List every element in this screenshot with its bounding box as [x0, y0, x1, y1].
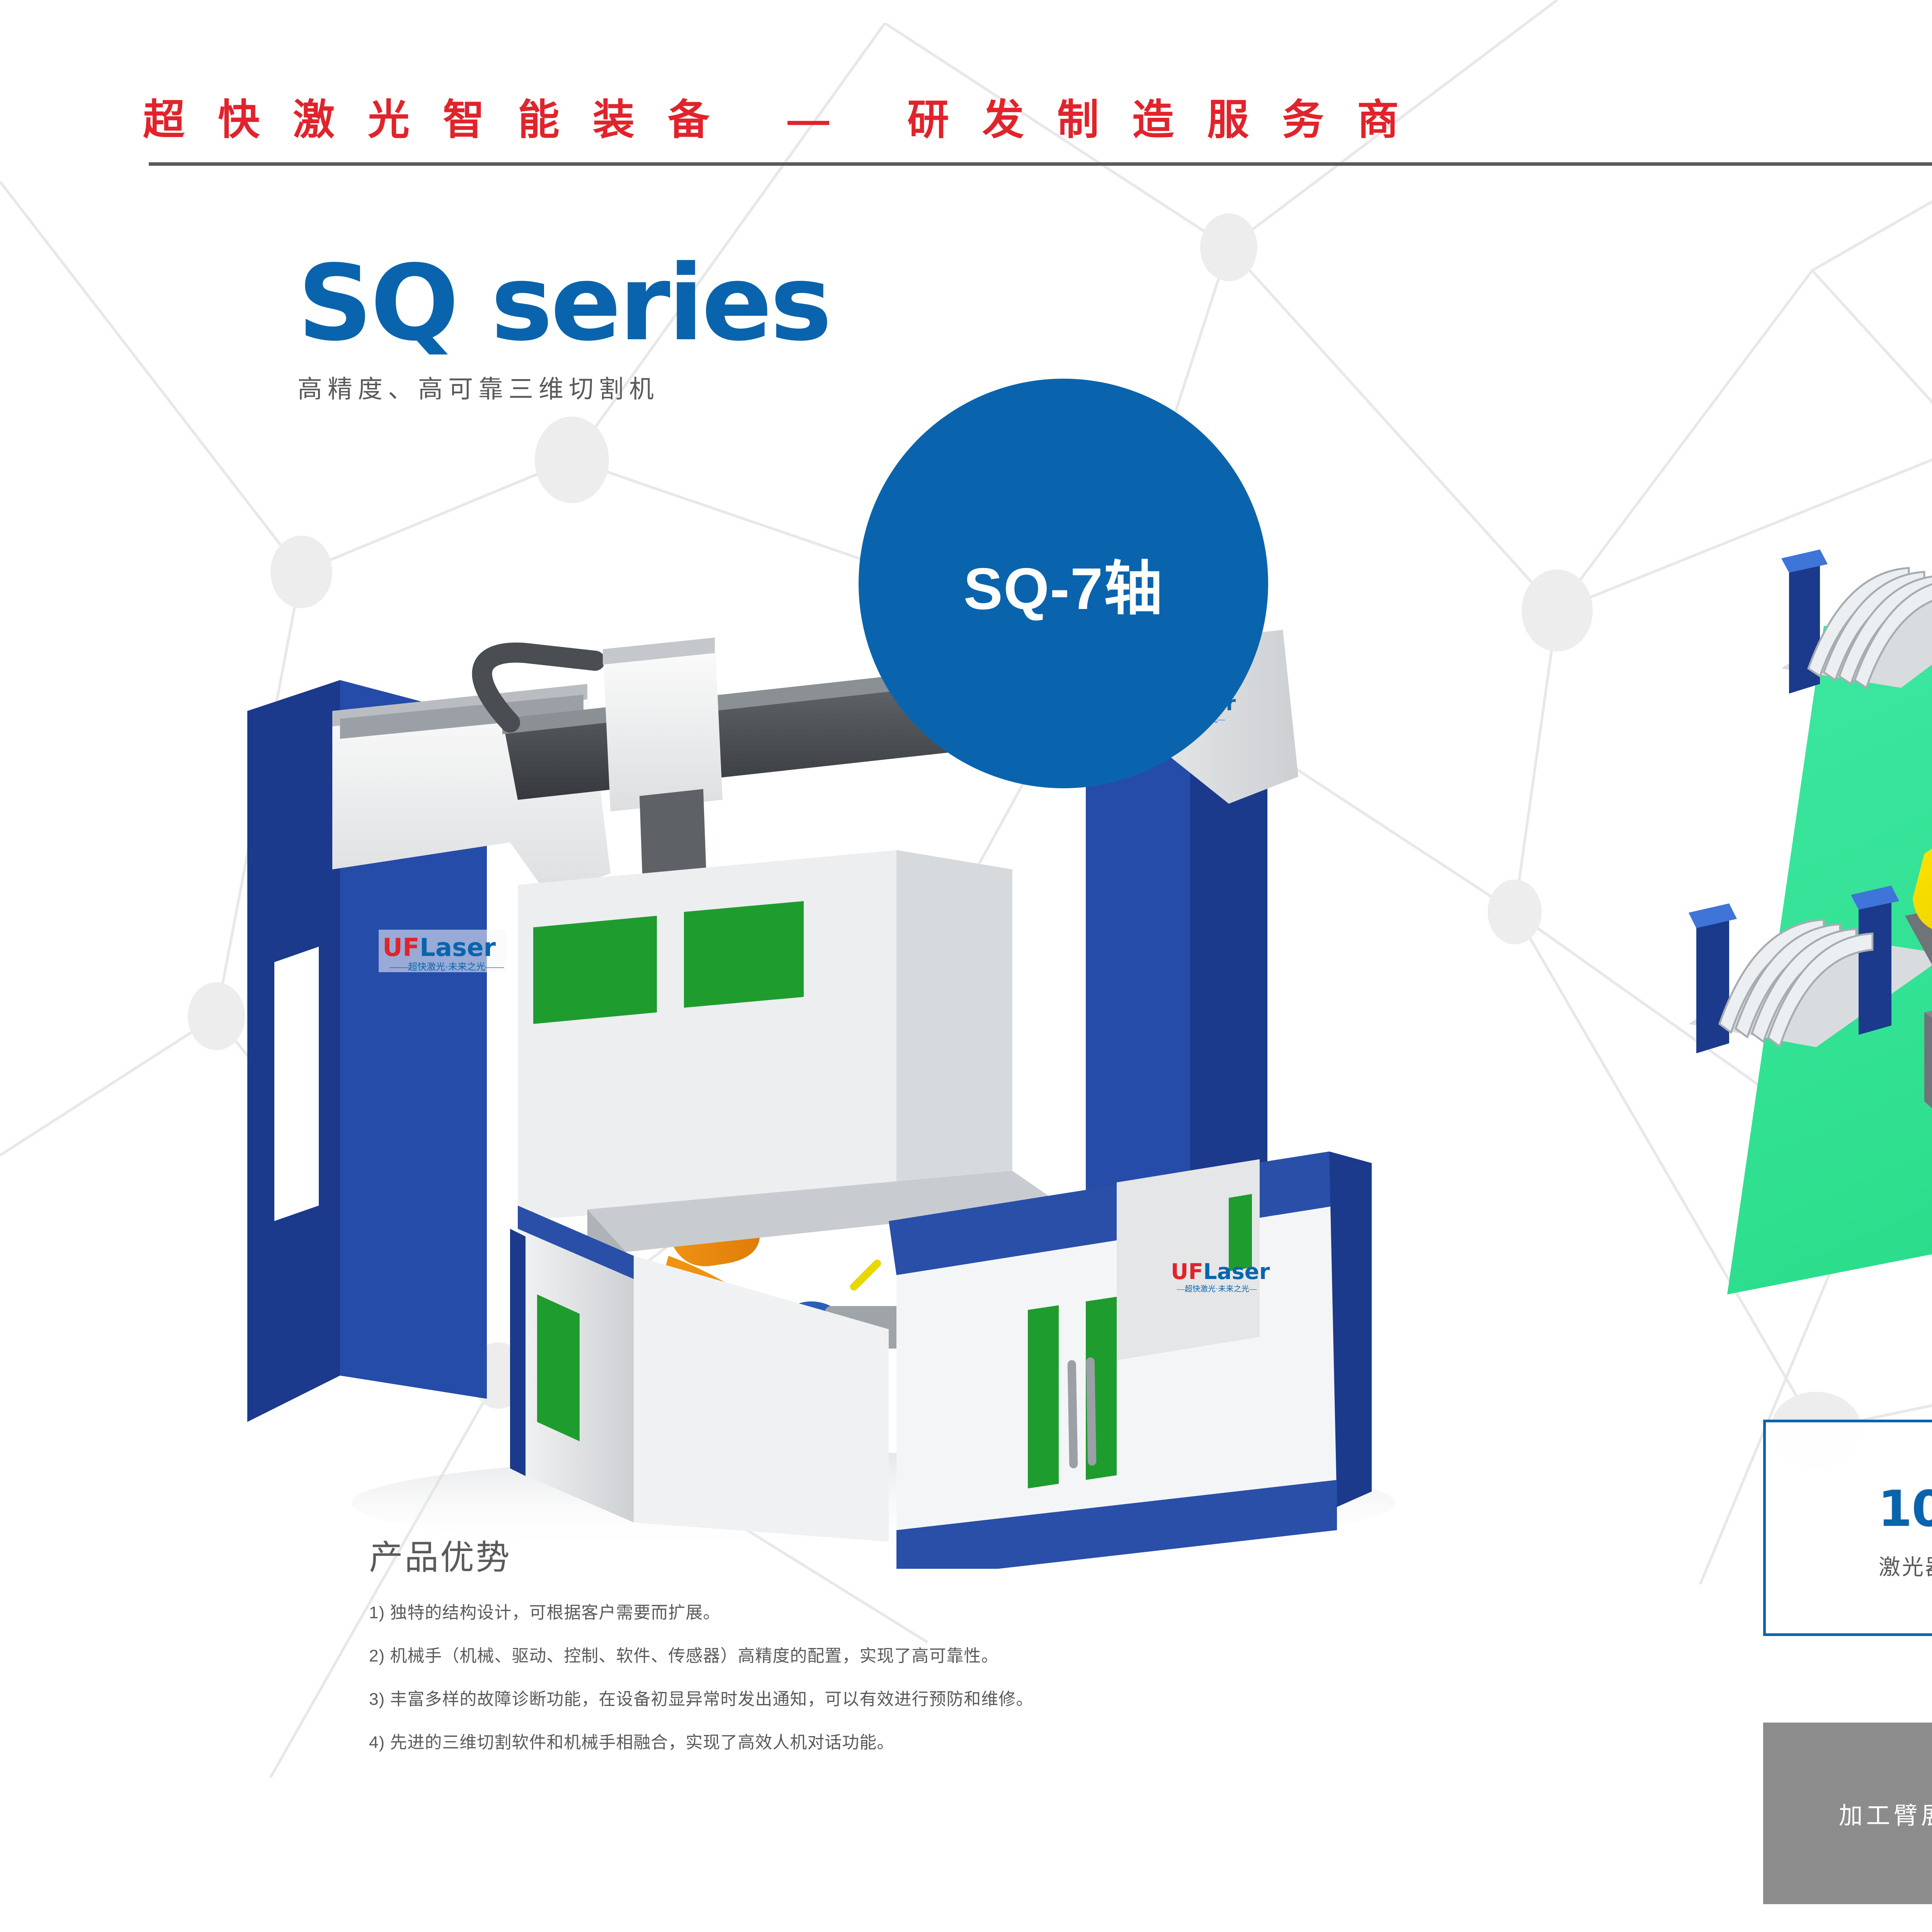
power-panel-label: 激光器功率	[1879, 1550, 1932, 1581]
header-slogan: 超快激光智能装备 — 研发制造服务商	[143, 89, 1432, 151]
spec-header-arm-reach: 加工臂展	[1763, 1723, 1932, 1904]
badge-sq7-line-1: SQ-7轴	[964, 541, 1163, 626]
power-options-row: 1000 瓦 1500 瓦 2000 瓦 3000 瓦	[1878, 1480, 1932, 1538]
advantage-item-2: 2) 机械手（机械、驱动、控制、软件、传感器）高精度的配置，实现了高可靠性。	[369, 1643, 1296, 1670]
advantage-item-3: 3) 丰富多样的故障诊断功能，在设备初显异常时发出通知，可以有效进行预防和维修。	[369, 1686, 1296, 1713]
advantage-item-4: 4) 先进的三维切割软件和机械手相融合，实现了高效人机对话功能。	[369, 1729, 1296, 1756]
brochure-page: 超快激光智能装备 — 研发制造服务商 UFLaser ——超快激光·未来之光——…	[0, 0, 1932, 1932]
automation-cell-image: UF Laser —超快激光·未来之光—	[1654, 498, 1932, 1403]
power-value-1: 1000	[1878, 1480, 1932, 1538]
arm-reach-spec-table: 加工臂展 1400mm 1600mm 1800mm 2000mm	[1763, 1723, 1932, 1904]
page-title: SQ series	[298, 255, 830, 352]
sq-7axis-machine-image: UF Laser ——超快激光·未来之光—— UF Laser —超快激光·未来…	[216, 603, 1530, 1569]
power-option-1000w: 1000 瓦	[1878, 1480, 1932, 1538]
svg-text:Laser: Laser	[420, 934, 496, 962]
svg-text:—超快激光·未来之光—: —超快激光·未来之光—	[1177, 1284, 1257, 1293]
badge-sq7-axis: SQ-7轴	[859, 379, 1268, 788]
svg-text:——超快激光·未来之光——: ——超快激光·未来之光——	[389, 962, 504, 972]
page-title-block: SQ series 高精度、高可靠三维切割机	[298, 255, 830, 405]
svg-text:UF: UF	[1171, 1259, 1203, 1284]
svg-text:UF: UF	[383, 934, 420, 962]
page-subtitle: 高精度、高可靠三维切割机	[298, 369, 830, 405]
laser-power-panel: 1000 瓦 1500 瓦 2000 瓦 3000 瓦 激光器功率	[1763, 1420, 1932, 1636]
machine-logo-left: UF Laser ——超快激光·未来之光——	[379, 930, 506, 972]
header-divider	[149, 162, 1932, 166]
blank-rack-upper	[1781, 536, 1932, 694]
page-header: 超快激光智能装备 — 研发制造服务商 UFLaser ——超快激光·未来之光——	[0, 89, 1932, 151]
advantage-item-1: 1) 独特的结构设计，可根据客户需要而扩展。	[369, 1599, 1296, 1626]
svg-text:Laser: Laser	[1203, 1259, 1270, 1284]
machine-logo-door: UF Laser —超快激光·未来之光—	[1171, 1259, 1270, 1293]
advantages-title: 产品优势	[369, 1530, 1296, 1579]
product-advantages-block: 产品优势 1) 独特的结构设计，可根据客户需要而扩展。 2) 机械手（机械、驱动…	[369, 1530, 1296, 1772]
